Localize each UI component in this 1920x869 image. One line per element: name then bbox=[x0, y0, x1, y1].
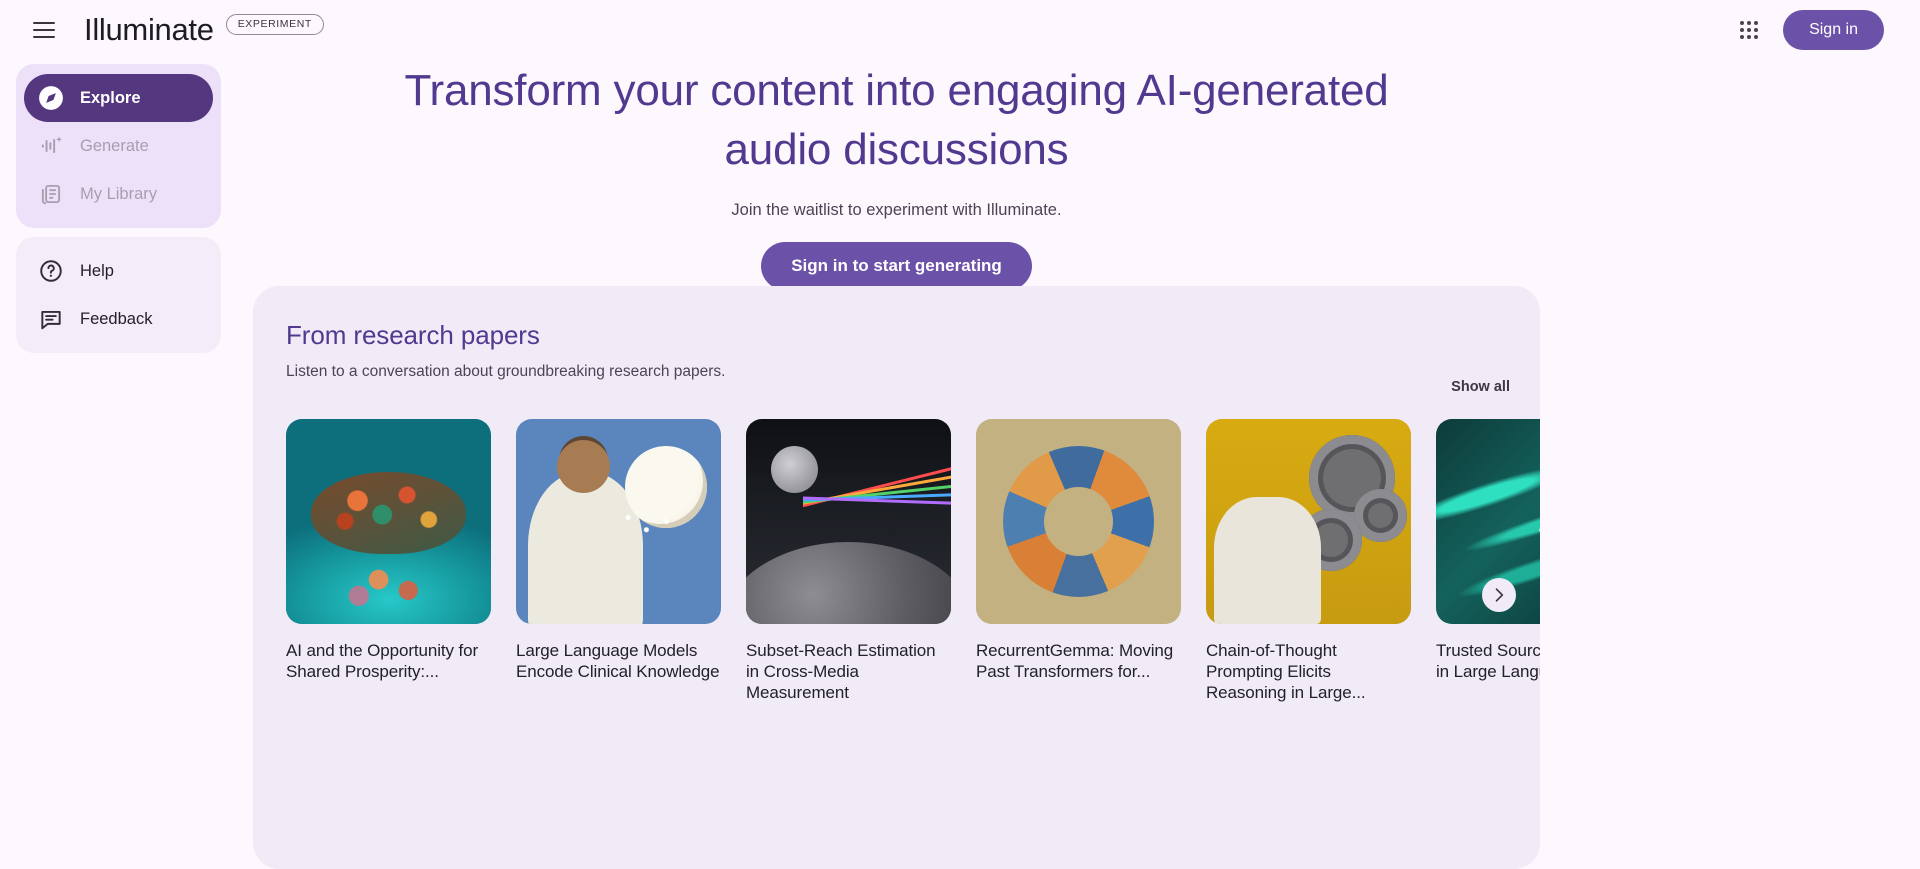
research-papers-panel: From research papers Listen to a convers… bbox=[253, 286, 1540, 869]
paper-card[interactable]: Trusted Source Alignment in Large Langua… bbox=[1436, 419, 1540, 704]
paper-card-title: Large Language Models Encode Clinical Kn… bbox=[516, 641, 721, 683]
moon-light-rays-thumbnail bbox=[746, 419, 951, 624]
library-article-icon bbox=[38, 181, 64, 207]
section-description: Listen to a conversation about groundbre… bbox=[286, 363, 1507, 381]
hero-subtitle: Join the waitlist to experiment with Ill… bbox=[253, 201, 1540, 220]
sign-in-button[interactable]: Sign in bbox=[1783, 10, 1884, 50]
hero-headline: Transform your content into engaging AI-… bbox=[253, 62, 1540, 179]
app-brand-title: Illuminate bbox=[84, 12, 214, 48]
thinker-with-gears-thumbnail bbox=[1206, 419, 1411, 624]
show-all-link[interactable]: Show all bbox=[1451, 379, 1510, 395]
explore-compass-icon bbox=[38, 85, 64, 111]
panel-header: From research papers Listen to a convers… bbox=[253, 286, 1540, 381]
spiral-coil-thumbnail bbox=[976, 419, 1181, 624]
carousel-next-button[interactable] bbox=[1482, 578, 1516, 612]
paper-card-title: AI and the Opportunity for Shared Prospe… bbox=[286, 641, 491, 683]
sidebar-item-help[interactable]: Help bbox=[24, 247, 213, 295]
sidebar-item-label: Feedback bbox=[80, 310, 152, 329]
section-title: From research papers bbox=[286, 320, 1507, 351]
paper-card[interactable]: AI and the Opportunity for Shared Prospe… bbox=[286, 419, 491, 704]
sidebar-item-label: Explore bbox=[80, 89, 141, 108]
start-generating-button[interactable]: Sign in to start generating bbox=[761, 242, 1032, 290]
hamburger-menu-icon[interactable] bbox=[24, 10, 64, 50]
app-header: Illuminate EXPERIMENT Sign in bbox=[0, 0, 1920, 60]
sidebar-item-label: Generate bbox=[80, 137, 149, 156]
sidebar: Explore Generate bbox=[16, 64, 221, 362]
paper-card[interactable]: Subset-Reach Estimation in Cross-Media M… bbox=[746, 419, 951, 704]
paper-card[interactable]: Large Language Models Encode Clinical Kn… bbox=[516, 419, 721, 704]
chevron-right-icon bbox=[1489, 585, 1509, 605]
paper-card-carousel[interactable]: AI and the Opportunity for Shared Prospe… bbox=[286, 419, 1540, 704]
paper-card-title: RecurrentGemma: Moving Past Transformers… bbox=[976, 641, 1181, 683]
paper-card-title: Trusted Source Alignment in Large Langua… bbox=[1436, 641, 1540, 683]
sidebar-item-label: My Library bbox=[80, 185, 157, 204]
paper-card-title: Subset-Reach Estimation in Cross-Media M… bbox=[746, 641, 951, 704]
sidebar-item-label: Help bbox=[80, 262, 114, 281]
google-apps-grid-icon[interactable] bbox=[1729, 10, 1769, 50]
help-circle-icon bbox=[38, 258, 64, 284]
underwater-coral-island-thumbnail bbox=[286, 419, 491, 624]
sidebar-item-feedback[interactable]: Feedback bbox=[24, 295, 213, 343]
hero-section: Transform your content into engaging AI-… bbox=[253, 62, 1540, 290]
sidebar-item-my-library[interactable]: My Library bbox=[24, 170, 213, 218]
sidebar-primary-card: Explore Generate bbox=[16, 64, 221, 228]
experiment-badge: EXPERIMENT bbox=[226, 14, 324, 35]
doctor-brain-illustration-thumbnail bbox=[516, 419, 721, 624]
paper-card-title: Chain-of-Thought Prompting Elicits Reaso… bbox=[1206, 641, 1411, 704]
sidebar-item-generate[interactable]: Generate bbox=[24, 122, 213, 170]
sidebar-secondary-card: Help Feedback bbox=[16, 237, 221, 353]
paper-card[interactable]: RecurrentGemma: Moving Past Transformers… bbox=[976, 419, 1181, 704]
paper-card[interactable]: Chain-of-Thought Prompting Elicits Reaso… bbox=[1206, 419, 1411, 704]
audio-waveform-sparkle-icon bbox=[38, 133, 64, 159]
sidebar-item-explore[interactable]: Explore bbox=[24, 74, 213, 122]
feedback-chat-icon bbox=[38, 306, 64, 332]
